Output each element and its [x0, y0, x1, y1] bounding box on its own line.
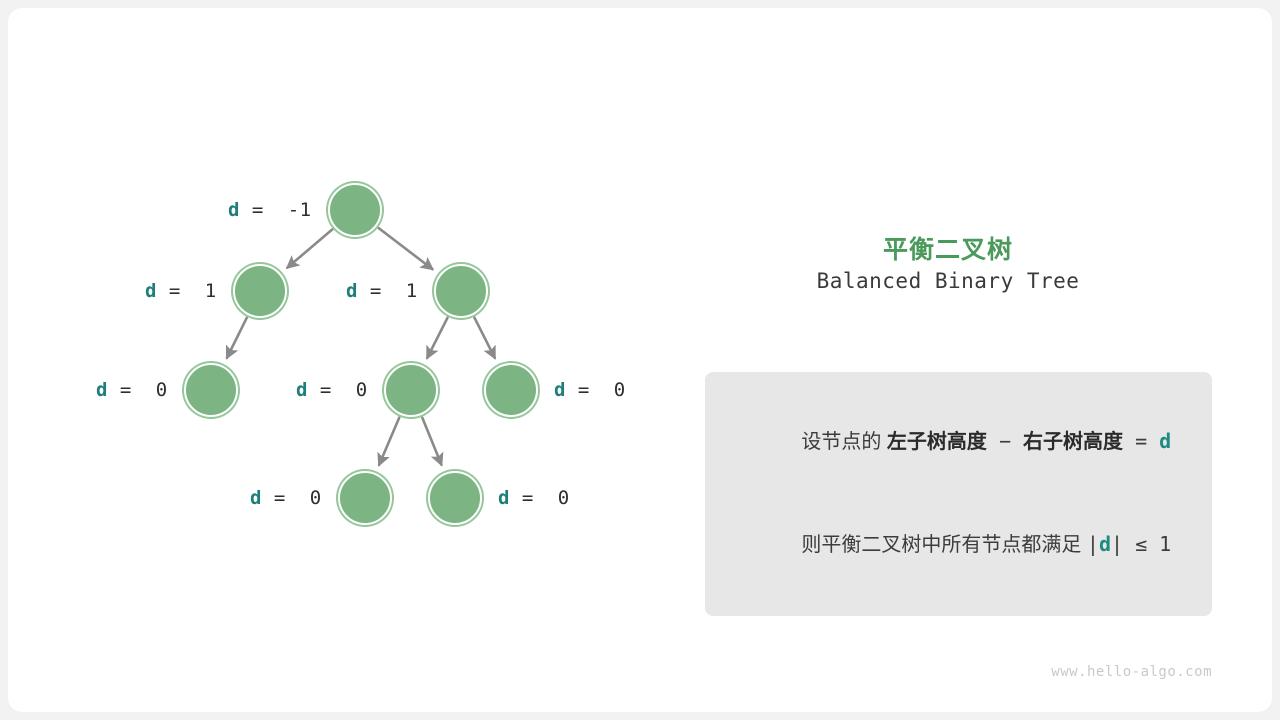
balance-factor-symbol: d	[346, 280, 358, 302]
equals-sign: =	[510, 487, 558, 509]
tree-node-balance-label: d = 0	[296, 379, 368, 401]
formula-line2-bar-open: |	[1087, 532, 1099, 556]
formula-line2-d: d	[1099, 532, 1111, 556]
tree-node[interactable]	[428, 471, 482, 525]
equals-sign: =	[157, 280, 205, 302]
tree-node[interactable]	[328, 183, 382, 237]
info-panel: 平衡二叉树 Balanced Binary Tree 设节点的 左子树高度 − …	[688, 8, 1272, 712]
balance-factor-symbol: d	[250, 487, 262, 509]
screenshot-stage: d = -1d = 1d = 1d = 0d = 0d = 0d = 0d = …	[0, 0, 1280, 720]
tree-node[interactable]	[184, 363, 238, 417]
tree-edge	[379, 228, 433, 269]
balance-factor-symbol: d	[145, 280, 157, 302]
balance-factor-symbol: d	[554, 379, 566, 401]
formula-line2-one: 1	[1159, 532, 1171, 556]
equals-sign: =	[358, 280, 406, 302]
tree-edge	[422, 418, 441, 465]
equals-sign: =	[566, 379, 614, 401]
balance-factor-symbol: d	[96, 379, 108, 401]
formula-line2-bar-close: |	[1111, 532, 1123, 556]
balance-factor-symbol: d	[498, 487, 510, 509]
tree-node-balance-label: d = 0	[498, 487, 570, 509]
equals-sign: =	[240, 199, 288, 221]
formula-line1-right-subtree-height: 右子树高度	[1023, 431, 1123, 453]
tree-node-balance-label: d = -1	[228, 199, 312, 221]
formula-line-2: 则平衡二叉树中所有节点都满足 |d| ≤ 1	[705, 493, 1212, 596]
tree-node[interactable]	[233, 264, 287, 318]
tree-node[interactable]	[434, 264, 488, 318]
tree-edge	[379, 418, 399, 465]
equals-sign: =	[308, 379, 356, 401]
balance-factor-value: 0	[614, 379, 626, 401]
balance-factor-value: 0	[310, 487, 322, 509]
balance-factor-symbol: d	[296, 379, 308, 401]
balance-factor-symbol: d	[228, 199, 240, 221]
balance-factor-value: 0	[156, 379, 168, 401]
formula-line1-equals: =	[1123, 429, 1159, 453]
balance-factor-value: 1	[406, 280, 418, 302]
tree-node[interactable]	[338, 471, 392, 525]
formula-box: 设节点的 左子树高度 − 右子树高度 = d 则平衡二叉树中所有节点都满足 |d…	[705, 372, 1212, 616]
balance-factor-value: -1	[288, 199, 312, 221]
tree-edge	[287, 229, 332, 267]
formula-line2-prefix: 则平衡二叉树中所有节点都满足	[801, 534, 1087, 556]
formula-line1-left-subtree-height: 左子树高度	[887, 431, 987, 453]
formula-line-1: 设节点的 左子树高度 − 右子树高度 = d	[705, 390, 1212, 493]
balanced-binary-tree-diagram: d = -1d = 1d = 1d = 0d = 0d = 0d = 0d = …	[8, 8, 688, 712]
formula-line1-d: d	[1159, 429, 1171, 453]
panel-title: 平衡二叉树	[688, 230, 1208, 266]
figure-card: d = -1d = 1d = 1d = 0d = 0d = 0d = 0d = …	[8, 8, 1272, 712]
equals-sign: =	[262, 487, 310, 509]
tree-node-balance-label: d = 1	[145, 280, 217, 302]
formula-line1-prefix: 设节点的	[801, 431, 887, 453]
tree-edge	[227, 318, 247, 358]
tree-edges-layer	[8, 8, 688, 712]
tree-node-balance-label: d = 0	[96, 379, 168, 401]
watermark: www.hello-algo.com	[1051, 664, 1212, 680]
tree-node-balance-label: d = 0	[250, 487, 322, 509]
balance-factor-value: 0	[356, 379, 368, 401]
equals-sign: =	[108, 379, 156, 401]
balance-factor-value: 0	[558, 487, 570, 509]
tree-edge	[427, 318, 447, 358]
formula-line1-minus: −	[987, 429, 1023, 453]
tree-node-balance-label: d = 0	[554, 379, 626, 401]
formula-line2-less-equal: ≤	[1123, 532, 1159, 556]
tree-node-balance-label: d = 1	[346, 280, 418, 302]
tree-node[interactable]	[484, 363, 538, 417]
tree-node[interactable]	[384, 363, 438, 417]
balance-factor-value: 1	[205, 280, 217, 302]
panel-subtitle: Balanced Binary Tree	[688, 269, 1208, 293]
tree-edge	[475, 318, 495, 358]
